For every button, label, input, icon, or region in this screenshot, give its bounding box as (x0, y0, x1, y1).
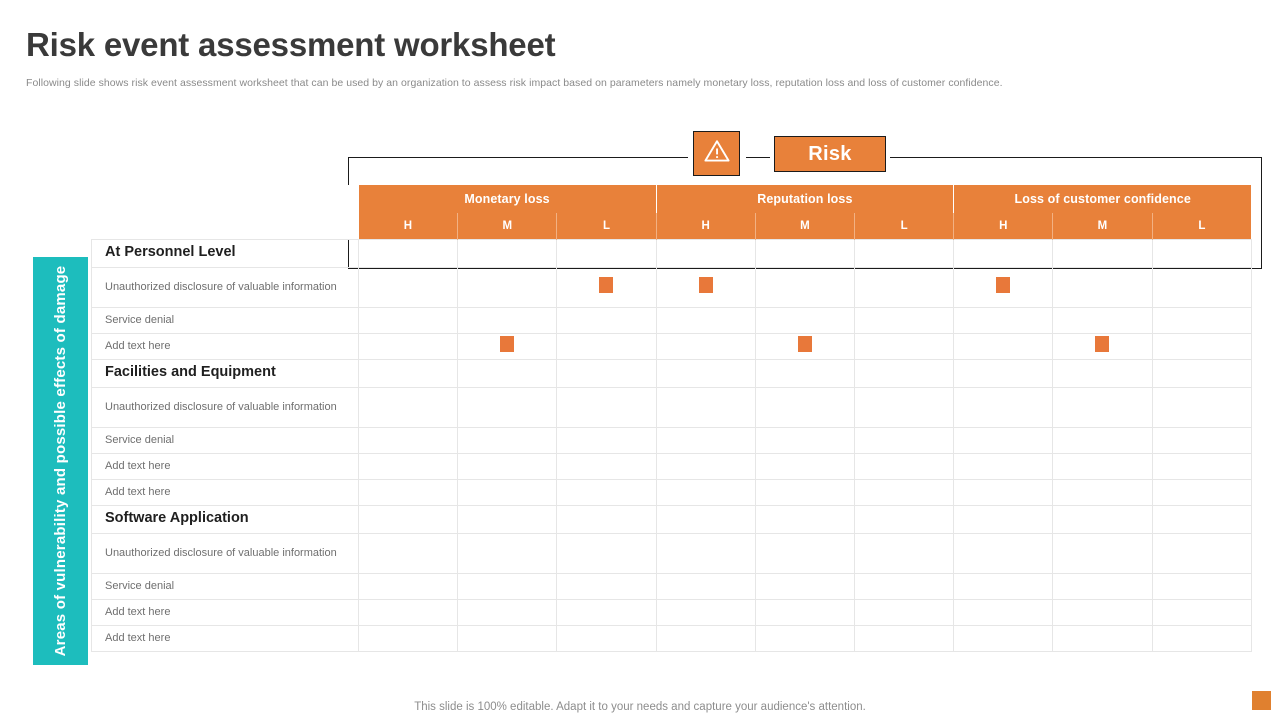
rating-cell[interactable] (656, 505, 755, 533)
rating-cell-marked[interactable] (557, 267, 656, 307)
rating-cell[interactable] (359, 533, 458, 573)
table-row: Add text here (92, 479, 1252, 505)
rating-cell[interactable] (1152, 625, 1251, 651)
rating-cell[interactable] (854, 427, 953, 453)
table-section-row: Facilities and Equipment (92, 359, 1252, 387)
rating-cell[interactable] (458, 453, 557, 479)
rating-cell[interactable] (1053, 479, 1152, 505)
rating-cell[interactable] (656, 625, 755, 651)
rating-marker-square (699, 277, 713, 293)
table-row: Unauthorized disclosure of valuable info… (92, 267, 1252, 307)
row-label: Unauthorized disclosure of valuable info… (92, 387, 359, 427)
table-row: Unauthorized disclosure of valuable info… (92, 533, 1252, 573)
rating-cell[interactable] (656, 453, 755, 479)
table-row: Add text here (92, 333, 1252, 359)
row-label: Unauthorized disclosure of valuable info… (92, 267, 359, 307)
rating-cell[interactable] (954, 453, 1053, 479)
rating-cell[interactable] (1053, 427, 1152, 453)
rating-cell[interactable] (954, 479, 1053, 505)
rating-cell[interactable] (557, 453, 656, 479)
table-row: Service denial (92, 307, 1252, 333)
rating-cell[interactable] (1053, 573, 1152, 599)
rating-marker-square (500, 336, 514, 352)
rating-cell[interactable] (656, 533, 755, 573)
rating-cell[interactable] (359, 307, 458, 333)
table-row: Unauthorized disclosure of valuable info… (92, 387, 1252, 427)
rating-cell[interactable] (656, 387, 755, 427)
rating-cell[interactable] (458, 427, 557, 453)
page-subtitle: Following slide shows risk event assessm… (26, 77, 1003, 89)
table-head: Monetary loss Reputation loss Loss of cu… (92, 185, 1252, 239)
rating-cell[interactable] (755, 573, 854, 599)
rating-cell[interactable] (458, 625, 557, 651)
rating-cell[interactable] (954, 307, 1053, 333)
subheader-monetary-l: L (557, 213, 656, 239)
table-section-row: At Personnel Level (92, 239, 1252, 267)
rating-cell[interactable] (854, 267, 953, 307)
section-label: At Personnel Level (92, 239, 359, 267)
rating-cell[interactable] (854, 387, 953, 427)
rating-cell[interactable] (458, 573, 557, 599)
group-header-monetary-loss: Monetary loss (359, 185, 657, 213)
rating-cell[interactable] (954, 533, 1053, 573)
rating-cell[interactable] (656, 599, 755, 625)
rating-cell[interactable] (755, 533, 854, 573)
rating-cell[interactable] (458, 599, 557, 625)
rating-cell[interactable] (755, 625, 854, 651)
rating-cell[interactable] (656, 573, 755, 599)
rating-cell[interactable] (656, 359, 755, 387)
rating-cell[interactable] (1053, 267, 1152, 307)
rating-cell[interactable] (359, 333, 458, 359)
rating-cell[interactable] (656, 479, 755, 505)
subheader-blank (92, 213, 359, 239)
rating-cell-marked[interactable] (1053, 333, 1152, 359)
rating-marker-square (599, 277, 613, 293)
rating-cell[interactable] (854, 333, 953, 359)
table-row: Service denial (92, 427, 1252, 453)
rating-cell[interactable] (854, 479, 953, 505)
rating-cell[interactable] (954, 625, 1053, 651)
rating-cell-marked[interactable] (755, 333, 854, 359)
rating-cell[interactable] (1152, 307, 1251, 333)
rating-cell[interactable] (458, 533, 557, 573)
rating-cell[interactable] (755, 307, 854, 333)
rating-cell[interactable] (359, 359, 458, 387)
rating-cell[interactable] (458, 267, 557, 307)
rating-cell[interactable] (458, 307, 557, 333)
section-label: Software Application (92, 505, 359, 533)
section-label: Facilities and Equipment (92, 359, 359, 387)
subheader-customer-m: M (1053, 213, 1152, 239)
rating-cell[interactable] (557, 387, 656, 427)
risk-label-badge[interactable]: Risk (774, 136, 886, 172)
row-label: Service denial (92, 573, 359, 599)
rating-cell[interactable] (359, 599, 458, 625)
rating-cell[interactable] (854, 505, 953, 533)
rating-cell[interactable] (656, 333, 755, 359)
rating-cell[interactable] (1053, 505, 1152, 533)
subheader-customer-h: H (954, 213, 1053, 239)
rating-cell[interactable] (458, 387, 557, 427)
rating-cell[interactable] (359, 573, 458, 599)
rating-cell[interactable] (1152, 599, 1251, 625)
subheader-monetary-h: H (359, 213, 458, 239)
rating-cell[interactable] (854, 359, 953, 387)
rating-cell[interactable] (854, 307, 953, 333)
subheader-customer-l: L (1152, 213, 1251, 239)
rating-cell[interactable] (359, 267, 458, 307)
group-header-blank (92, 185, 359, 213)
rating-cell[interactable] (458, 505, 557, 533)
rating-cell-marked[interactable] (458, 333, 557, 359)
rating-cell[interactable] (1152, 573, 1251, 599)
row-label: Add text here (92, 625, 359, 651)
rating-cell[interactable] (1152, 387, 1251, 427)
row-label: Service denial (92, 427, 359, 453)
rating-cell[interactable] (854, 533, 953, 573)
rating-cell[interactable] (954, 599, 1053, 625)
rating-cell[interactable] (1152, 427, 1251, 453)
table-row: Add text here (92, 599, 1252, 625)
corner-accent-square (1252, 691, 1271, 710)
rating-cell[interactable] (1152, 479, 1251, 505)
subheader-reputation-m: M (755, 213, 854, 239)
rating-cell[interactable] (755, 267, 854, 307)
rating-cell[interactable] (359, 453, 458, 479)
rating-cell[interactable] (1152, 333, 1251, 359)
page-title: Risk event assessment worksheet (26, 26, 555, 64)
rating-cell[interactable] (954, 239, 1053, 267)
rating-cell[interactable] (557, 625, 656, 651)
rating-cell[interactable] (359, 479, 458, 505)
risk-label-text: Risk (808, 143, 851, 166)
rating-cell[interactable] (557, 599, 656, 625)
rating-cell[interactable] (954, 387, 1053, 427)
rating-cell[interactable] (1152, 267, 1251, 307)
table-body: At Personnel LevelUnauthorized disclosur… (92, 239, 1252, 651)
rating-cell[interactable] (1053, 625, 1152, 651)
rating-cell[interactable] (557, 505, 656, 533)
rating-cell[interactable] (1053, 307, 1152, 333)
warning-triangle-icon (703, 138, 731, 169)
rating-cell[interactable] (557, 479, 656, 505)
rating-cell[interactable] (557, 307, 656, 333)
vertical-axis-band: Areas of vulnerability and possible effe… (33, 257, 88, 665)
rating-cell[interactable] (755, 387, 854, 427)
rating-cell[interactable] (755, 599, 854, 625)
table-subheader-row: H M L H M L H M L (92, 213, 1252, 239)
rating-cell[interactable] (656, 239, 755, 267)
rating-cell[interactable] (557, 239, 656, 267)
rating-cell[interactable] (557, 333, 656, 359)
rating-cell[interactable] (557, 533, 656, 573)
rating-cell[interactable] (656, 307, 755, 333)
rating-cell[interactable] (359, 625, 458, 651)
table-row: Service denial (92, 573, 1252, 599)
subheader-reputation-h: H (656, 213, 755, 239)
subheader-reputation-l: L (854, 213, 953, 239)
rating-cell[interactable] (359, 505, 458, 533)
rating-marker-square (798, 336, 812, 352)
rating-cell[interactable] (359, 427, 458, 453)
rating-cell[interactable] (954, 333, 1053, 359)
rating-cell[interactable] (755, 453, 854, 479)
table-row: Add text here (92, 625, 1252, 651)
vertical-axis-label: Areas of vulnerability and possible effe… (50, 259, 70, 663)
rating-cell[interactable] (1053, 239, 1152, 267)
rating-cell-marked[interactable] (954, 267, 1053, 307)
rating-cell[interactable] (1152, 533, 1251, 573)
rating-cell[interactable] (359, 387, 458, 427)
rating-cell[interactable] (954, 505, 1053, 533)
risk-assessment-table: Monetary loss Reputation loss Loss of cu… (91, 185, 1252, 652)
rating-cell[interactable] (458, 359, 557, 387)
row-label: Add text here (92, 333, 359, 359)
table-row: Add text here (92, 453, 1252, 479)
rating-cell[interactable] (1053, 453, 1152, 479)
rating-cell[interactable] (1152, 359, 1251, 387)
rating-cell[interactable] (1152, 505, 1251, 533)
slide-canvas: Risk event assessment worksheet Followin… (0, 0, 1280, 720)
group-header-reputation-loss: Reputation loss (656, 185, 954, 213)
rating-cell[interactable] (954, 573, 1053, 599)
rating-cell[interactable] (1053, 599, 1152, 625)
rating-cell[interactable] (854, 599, 953, 625)
rating-cell[interactable] (557, 427, 656, 453)
row-label: Add text here (92, 599, 359, 625)
rating-cell[interactable] (755, 239, 854, 267)
rating-cell[interactable] (854, 573, 953, 599)
rating-cell[interactable] (557, 573, 656, 599)
rating-cell[interactable] (359, 239, 458, 267)
row-label: Unauthorized disclosure of valuable info… (92, 533, 359, 573)
row-label: Add text here (92, 479, 359, 505)
rating-cell[interactable] (656, 427, 755, 453)
rating-cell[interactable] (458, 239, 557, 267)
rating-cell-marked[interactable] (656, 267, 755, 307)
rating-cell[interactable] (755, 427, 854, 453)
group-header-loss-of-customer-confidence: Loss of customer confidence (954, 185, 1252, 213)
rating-cell[interactable] (954, 427, 1053, 453)
rating-cell[interactable] (1053, 387, 1152, 427)
row-label: Add text here (92, 453, 359, 479)
rating-cell[interactable] (755, 359, 854, 387)
subheader-monetary-m: M (458, 213, 557, 239)
rating-cell[interactable] (755, 505, 854, 533)
rating-cell[interactable] (458, 479, 557, 505)
rating-cell[interactable] (1053, 533, 1152, 573)
risk-warning-badge[interactable] (693, 131, 740, 176)
rating-cell[interactable] (1152, 239, 1251, 267)
rating-cell[interactable] (557, 359, 656, 387)
rating-marker-square (996, 277, 1010, 293)
table-section-row: Software Application (92, 505, 1252, 533)
rating-cell[interactable] (1152, 453, 1251, 479)
rating-cell[interactable] (854, 239, 953, 267)
table-group-header-row: Monetary loss Reputation loss Loss of cu… (92, 185, 1252, 213)
rating-cell[interactable] (1053, 359, 1152, 387)
rating-marker-square (1095, 336, 1109, 352)
rating-cell[interactable] (854, 625, 953, 651)
footer-note: This slide is 100% editable. Adapt it to… (0, 701, 1280, 713)
rating-cell[interactable] (755, 479, 854, 505)
rating-cell[interactable] (854, 453, 953, 479)
rating-cell[interactable] (954, 359, 1053, 387)
row-label: Service denial (92, 307, 359, 333)
